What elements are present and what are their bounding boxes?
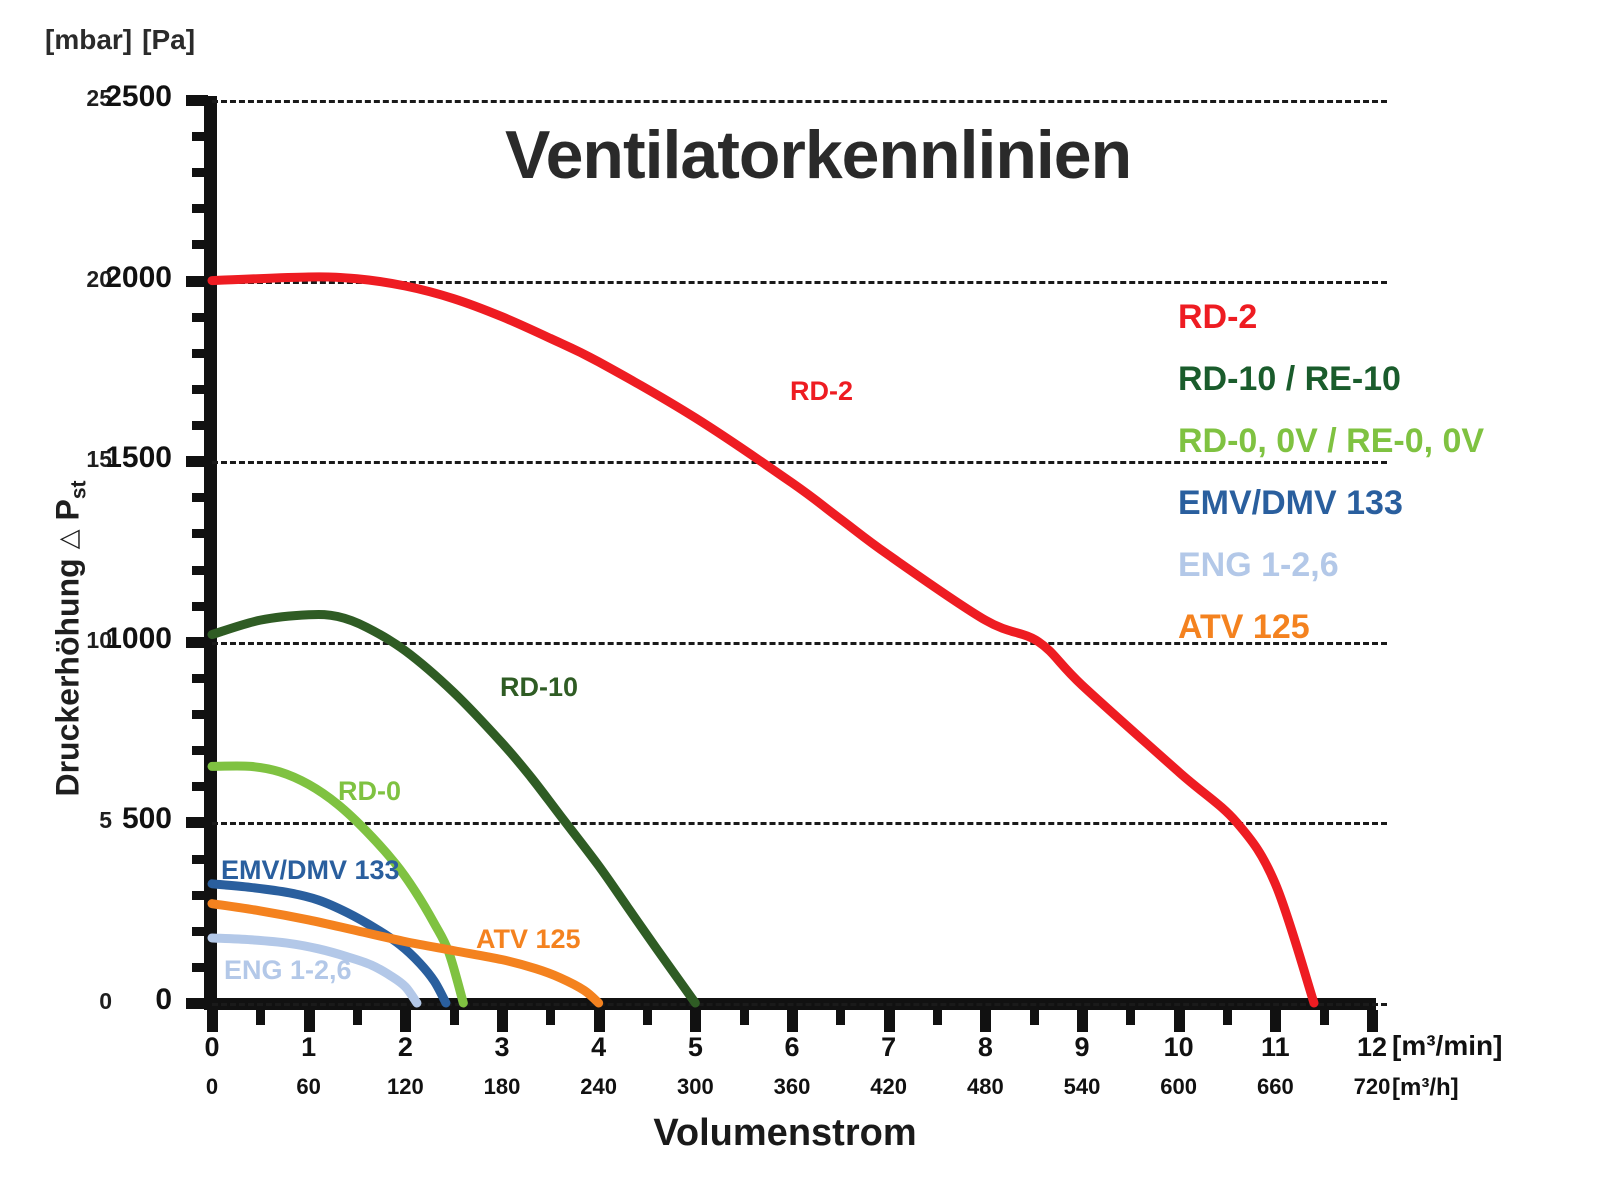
legend-item: RD-0, 0V / RE-0, 0V [1178, 410, 1598, 472]
curve-annotation: EMV/DMV 133 [221, 855, 400, 886]
legend-item: ENG 1-2,6 [1178, 534, 1598, 596]
x-axis-title: Volumenstrom [0, 1112, 1600, 1155]
legend-item: ATV 125 [1178, 596, 1598, 658]
curve-annotation: ATV 125 [476, 924, 581, 955]
x-unit-secondary-label: [m³/h] [1392, 1074, 1459, 1102]
curve-annotation: RD-2 [790, 376, 853, 407]
x-unit-primary-label: [m³/min] [1392, 1030, 1502, 1062]
legend: RD-2RD-10 / RE-10RD-0, 0V / RE-0, 0VEMV/… [1178, 286, 1598, 658]
x-axis-title-text: Volumenstrom [653, 1112, 916, 1155]
curve-annotation: ENG 1-2,6 [224, 955, 352, 986]
curve-rd-2 [212, 277, 1314, 1003]
curve-annotation: RD-10 [500, 672, 578, 703]
legend-item: EMV/DMV 133 [1178, 472, 1598, 534]
legend-item: RD-2 [1178, 286, 1598, 348]
legend-item: RD-10 / RE-10 [1178, 348, 1598, 410]
curve-annotation: RD-0 [338, 776, 401, 807]
fan-curve-chart: [mbar][Pa] Druckerhöhung △ Pst 252500202… [0, 0, 1600, 1200]
